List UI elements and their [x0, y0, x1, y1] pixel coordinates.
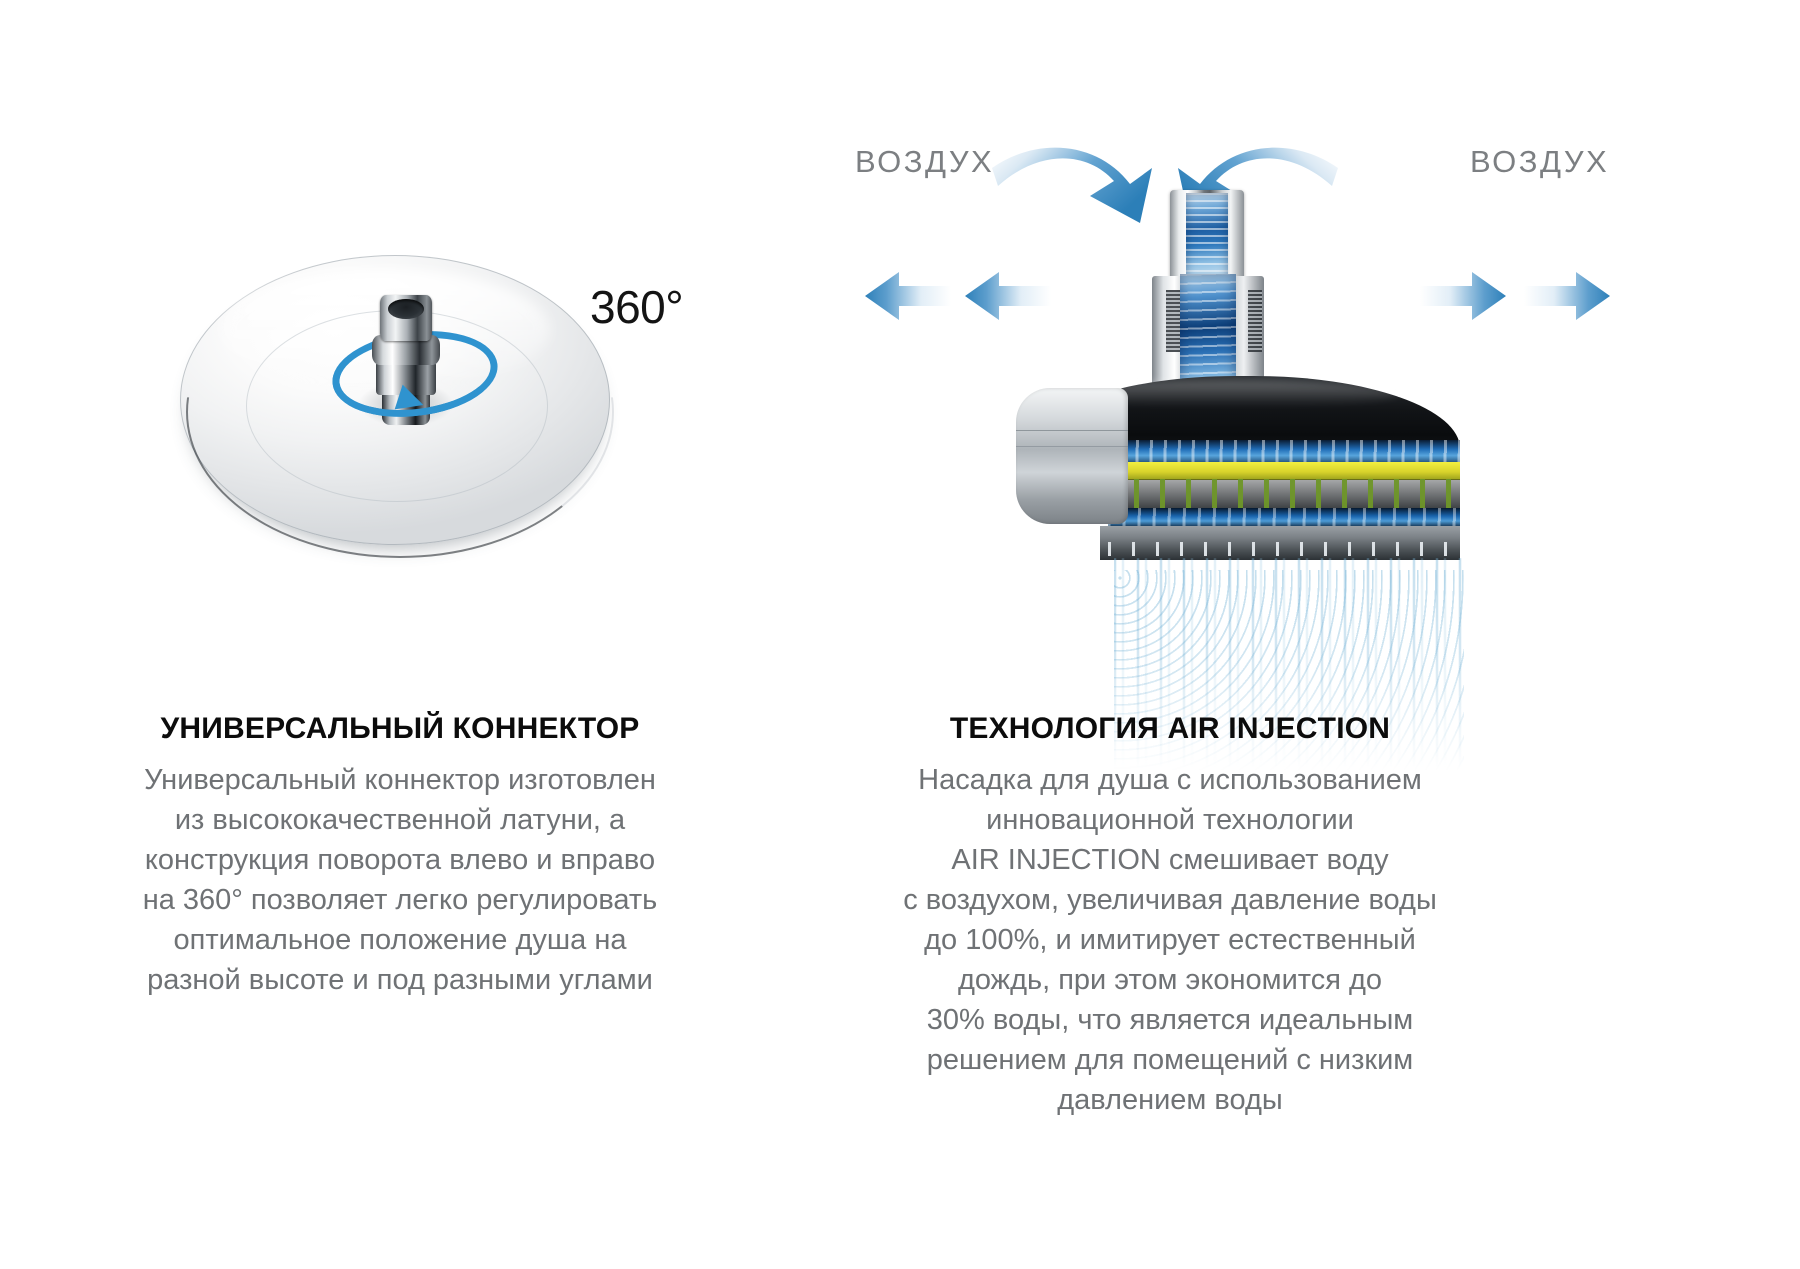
text-line: Универсальный коннектор изготовлен	[110, 760, 690, 800]
inlet-water-stream	[1186, 193, 1228, 279]
text-line: разной высоте и под разными углами	[110, 960, 690, 1000]
lower-water-layer	[1108, 508, 1460, 528]
diffuser-plate	[1108, 462, 1460, 480]
body-universal-connector: Универсальный коннектор изготовлен из вы…	[110, 760, 690, 1000]
air-label-left: ВОЗДУХ	[855, 144, 994, 180]
body-air-injection: Насадка для душа с использованием иннова…	[860, 760, 1480, 1120]
column-universal-connector: УНИВЕРСАЛЬНЫЙ КОННЕКТОР Универсальный ко…	[110, 712, 690, 1000]
mixing-chamber-water	[1180, 274, 1236, 392]
text-line: оптимальное положение душа на	[110, 920, 690, 960]
text-line: Насадка для душа с использованием	[860, 760, 1480, 800]
column-air-injection: ТЕХНОЛОГИЯ AIR INJECTION Насадка для душ…	[860, 712, 1480, 1120]
text-line: из высококачественной латуни, а	[110, 800, 690, 840]
infographic-canvas: 360° ВОЗДУХ ВОЗДУХ	[0, 0, 1800, 1269]
text-line: AIR INJECTION смешивает воду	[860, 840, 1480, 880]
air-arrows-left-icon	[865, 268, 1055, 324]
shower-head-disc	[150, 240, 620, 560]
text-line: с воздухом, увеличивая давление воды	[860, 880, 1480, 920]
rim-seam-bottom	[1016, 446, 1128, 447]
text-line: решением для помещений с низким	[860, 1040, 1480, 1080]
text-line: инновационной технологии	[860, 800, 1480, 840]
shower-head-cutaway	[1030, 190, 1460, 530]
air-label-right: ВОЗДУХ	[1470, 144, 1609, 180]
text-line: 30% воды, что является идеальным	[860, 1000, 1480, 1040]
chrome-side-rim	[1016, 388, 1128, 524]
connector-bore	[388, 299, 424, 319]
rim-seam-top	[1016, 430, 1128, 431]
text-line: давлением воды	[860, 1080, 1480, 1120]
air-injection-figure: ВОЗДУХ ВОЗДУХ	[840, 120, 1660, 640]
text-line: до 100%, и имитирует естественный	[860, 920, 1480, 960]
text-line: на 360° позволяет легко регулировать	[110, 880, 690, 920]
text-line: конструкция поворота влево и вправо	[110, 840, 690, 880]
universal-connector-figure: 360°	[150, 240, 670, 600]
heading-universal-connector: УНИВЕРСАЛЬНЫЙ КОННЕКТОР	[110, 712, 690, 746]
heading-air-injection: ТЕХНОЛОГИЯ AIR INJECTION	[860, 712, 1480, 746]
inlet-ridge-left	[1166, 290, 1180, 352]
text-line: дождь, при этом экономится до	[860, 960, 1480, 1000]
face-nozzle-row	[1108, 542, 1460, 556]
rotation-degrees-label: 360°	[590, 280, 683, 334]
inlet-ridge-right	[1248, 290, 1262, 352]
